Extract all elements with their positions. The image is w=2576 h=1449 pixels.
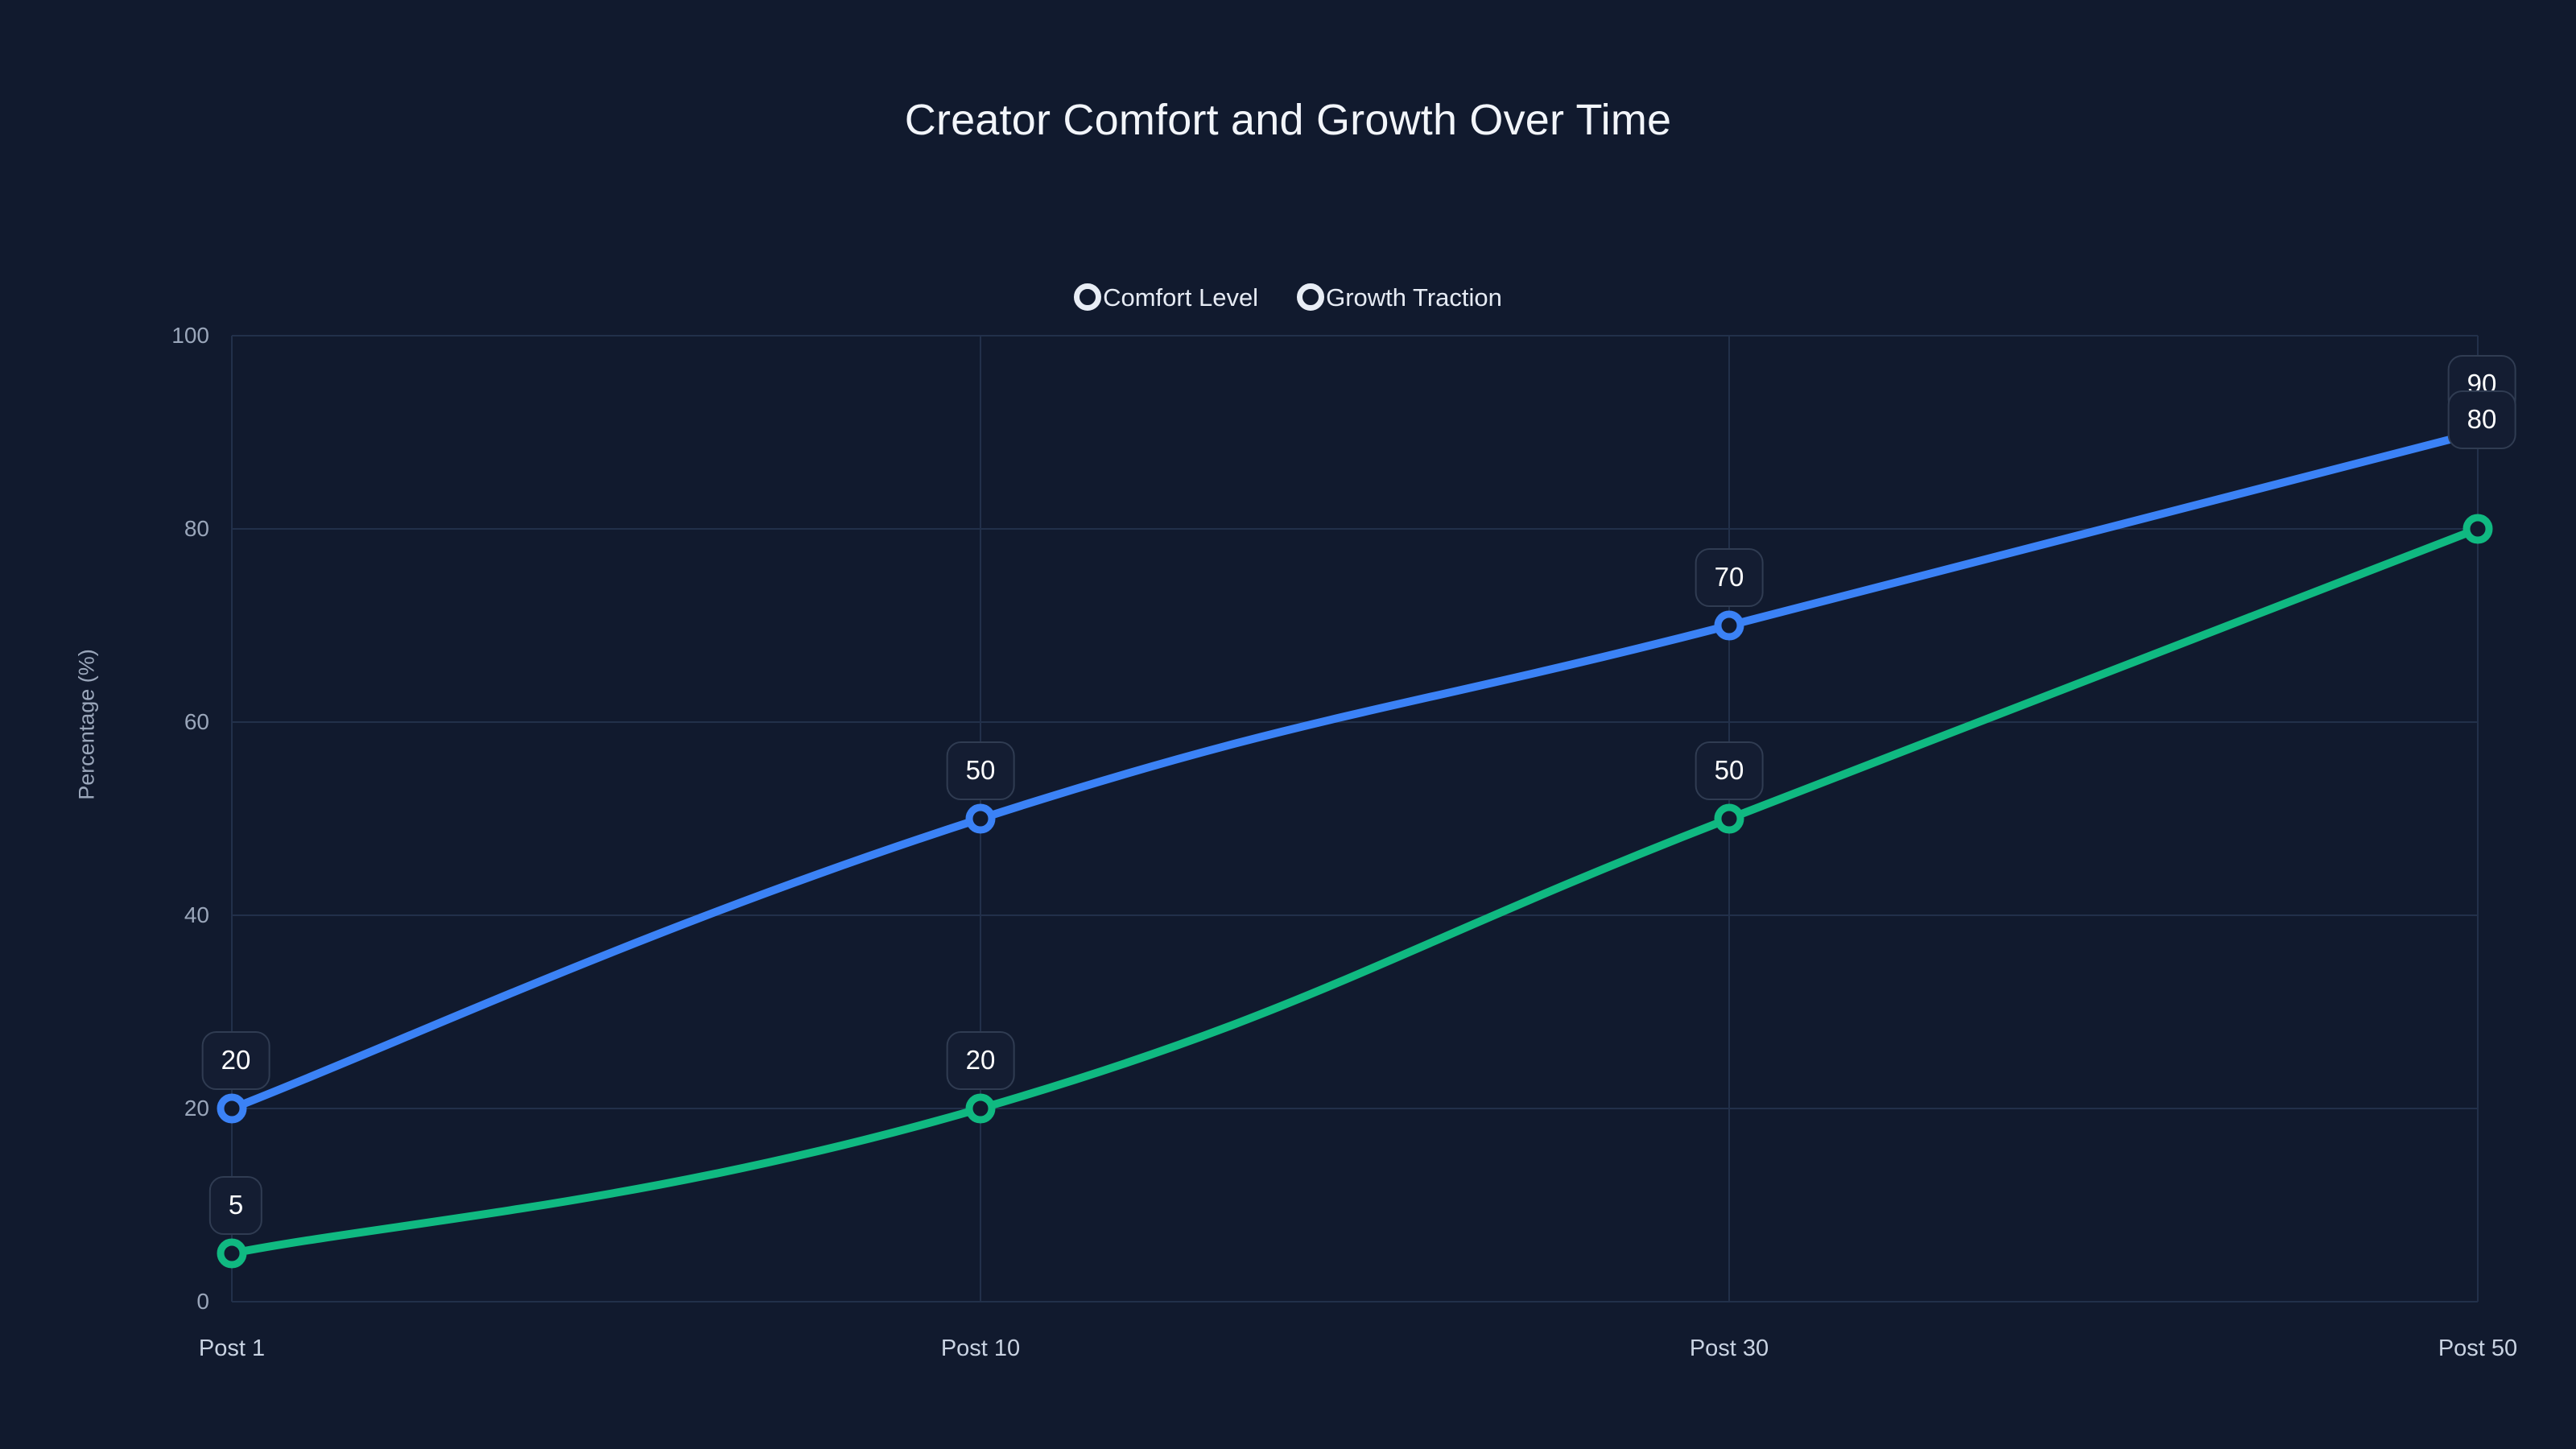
data-point-marker-growth-traction[interactable] bbox=[221, 1242, 243, 1265]
data-point-marker-growth-traction[interactable] bbox=[1718, 807, 1740, 830]
x-axis-tick-label: Post 30 bbox=[1690, 1335, 1769, 1362]
gridlines bbox=[232, 336, 2478, 1302]
series-markers bbox=[221, 421, 2489, 1265]
x-axis-tick-label: Post 10 bbox=[941, 1335, 1020, 1362]
data-point-value-label-growth-traction: 80 bbox=[2448, 390, 2516, 449]
series-line-comfort-level bbox=[232, 432, 2478, 1108]
data-point-marker-growth-traction[interactable] bbox=[2467, 518, 2489, 540]
y-axis-tick-label: 100 bbox=[129, 323, 209, 349]
data-point-marker-comfort-level[interactable] bbox=[969, 807, 992, 830]
data-point-marker-growth-traction[interactable] bbox=[969, 1097, 992, 1120]
y-axis-title: Percentage (%) bbox=[75, 649, 100, 800]
x-axis-tick-label: Post 1 bbox=[199, 1335, 265, 1362]
data-point-value-label-comfort-level: 50 bbox=[947, 741, 1015, 800]
y-axis-tick-label: 60 bbox=[129, 709, 209, 735]
series-line-growth-traction bbox=[232, 529, 2478, 1253]
data-point-marker-comfort-level[interactable] bbox=[1718, 614, 1740, 637]
y-axis-tick-label: 0 bbox=[129, 1289, 209, 1315]
data-point-value-label-growth-traction: 20 bbox=[947, 1031, 1015, 1090]
data-point-value-label-comfort-level: 70 bbox=[1695, 548, 1764, 607]
y-axis-tick-label: 80 bbox=[129, 516, 209, 542]
data-point-value-label-comfort-level: 20 bbox=[202, 1031, 270, 1090]
data-point-value-label-growth-traction: 5 bbox=[209, 1176, 262, 1235]
y-axis-tick-label: 20 bbox=[129, 1096, 209, 1121]
data-point-marker-comfort-level[interactable] bbox=[221, 1097, 243, 1120]
y-axis-tick-label: 40 bbox=[129, 902, 209, 928]
plot-svg bbox=[0, 0, 2576, 1449]
x-axis-tick-label: Post 50 bbox=[2438, 1335, 2517, 1362]
chart-container: Creator Comfort and Growth Over Time Com… bbox=[0, 0, 2576, 1449]
data-point-value-label-growth-traction: 50 bbox=[1695, 741, 1764, 800]
plot-area: 020406080100 Post 1Post 10Post 30Post 50… bbox=[0, 0, 2576, 1449]
series-lines bbox=[232, 432, 2478, 1253]
